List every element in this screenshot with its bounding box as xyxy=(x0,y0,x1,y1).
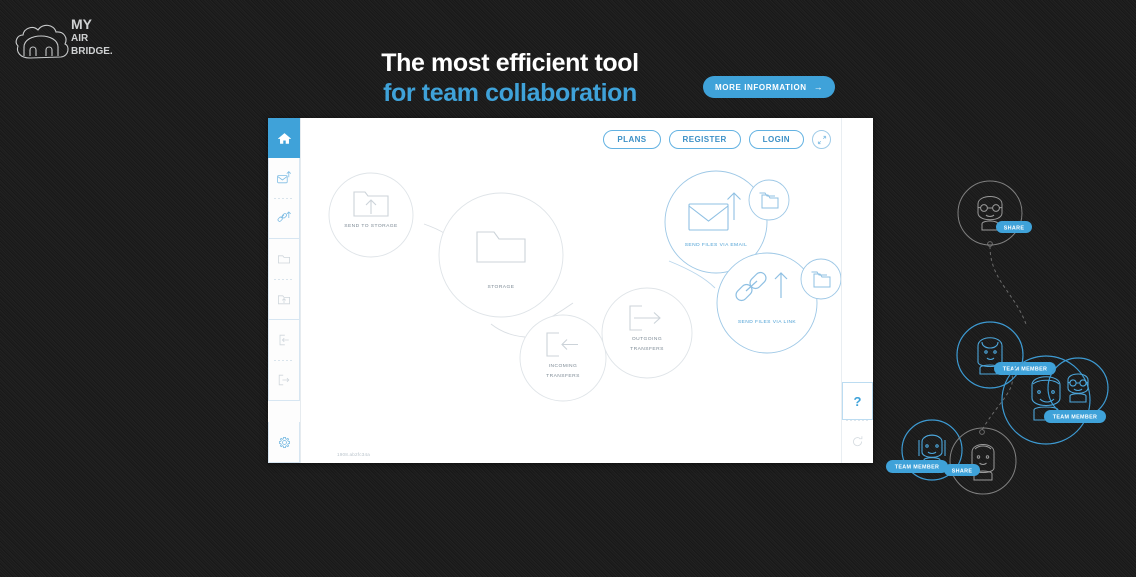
login-button[interactable]: LOGIN xyxy=(749,130,804,149)
landing-page: MY AIR BRIDGE. The most efficient tool f… xyxy=(0,0,1136,577)
svg-text:TEAM MEMBER: TEAM MEMBER xyxy=(1053,415,1098,421)
avatar-1[interactable]: SHARE xyxy=(958,181,1032,245)
sidebar-item-storage[interactable] xyxy=(269,239,299,279)
diagram-node-incoming-transfers[interactable]: INCOMING TRANSFERS xyxy=(520,315,606,401)
arrow-out-of-box-icon xyxy=(276,372,292,388)
node-label-send-to-storage: SEND TO STORAGE xyxy=(344,223,398,229)
man-bald-glasses-face xyxy=(1068,374,1088,402)
badge-team-member-5[interactable]: TEAM MEMBER xyxy=(886,460,948,473)
cloud-bridge-icon xyxy=(16,25,68,58)
connector-dot-bottom xyxy=(980,430,985,435)
badge-share-6[interactable]: SHARE xyxy=(944,464,980,476)
sidebar-item-send-to-storage[interactable] xyxy=(269,279,299,319)
workflow-diagram: SEND TO STORAGE STORAGE xyxy=(301,118,841,463)
sidebar-group-settings xyxy=(268,422,300,463)
node-label-incoming-line1: INCOMING xyxy=(549,363,578,369)
node-label-incoming-line2: TRANSFERS xyxy=(546,373,580,379)
satellite-files-email[interactable] xyxy=(749,180,789,220)
sidebar-item-send-files-via-email[interactable] xyxy=(269,158,299,198)
connector-dot-top xyxy=(988,242,993,247)
svg-text:TEAM MEMBER: TEAM MEMBER xyxy=(1003,367,1048,373)
app-canvas: PLANS REGISTER LOGIN xyxy=(301,118,841,463)
help-button[interactable]: ? xyxy=(842,382,873,420)
sidebar-item-settings[interactable] xyxy=(269,422,299,462)
brand-logo[interactable]: MY AIR BRIDGE. xyxy=(10,12,130,62)
node-label-send-files-via-link: SEND FILES VIA LINK xyxy=(738,319,797,325)
diagram-node-outgoing-transfers[interactable]: OUTGOING TRANSFERS xyxy=(602,288,692,378)
headline-line-1: The most efficient tool xyxy=(330,48,690,78)
app-topbar: PLANS REGISTER LOGIN xyxy=(603,130,831,149)
connector-dashed-top xyxy=(990,246,1026,324)
plans-button[interactable]: PLANS xyxy=(603,130,660,149)
svg-text:SHARE: SHARE xyxy=(1004,225,1025,231)
hero-headline: The most efficient tool for team collabo… xyxy=(330,48,690,108)
build-version: 1908.ab2fc34a xyxy=(337,452,370,457)
sidebar-spacer xyxy=(268,401,300,422)
app-window: PLANS REGISTER LOGIN xyxy=(268,118,873,463)
sidebar-item-incoming-transfers[interactable] xyxy=(269,320,299,360)
more-information-label: MORE INFORMATION xyxy=(715,83,807,92)
svg-text:TEAM MEMBER: TEAM MEMBER xyxy=(895,465,940,471)
brand-my: MY xyxy=(71,16,93,32)
diagram-node-send-to-storage[interactable]: SEND TO STORAGE xyxy=(329,173,413,257)
folder-upload-icon xyxy=(276,291,292,307)
home-icon xyxy=(278,132,291,145)
arrow-into-box-icon xyxy=(276,332,292,348)
brand-bridge: BRIDGE. xyxy=(71,46,113,57)
link-upload-icon xyxy=(276,210,292,226)
gear-icon xyxy=(277,435,292,450)
brand-air: AIR xyxy=(71,33,89,44)
team-illustration: SHARE TEAM MEMBER xyxy=(886,80,1136,500)
node-label-outgoing-line2: TRANSFERS xyxy=(630,346,664,352)
svg-text:SHARE: SHARE xyxy=(952,468,973,474)
avatar-6[interactable]: SHARE xyxy=(944,428,1016,494)
node-label-send-files-via-email: SEND FILES VIA EMAIL xyxy=(685,242,748,248)
envelope-upload-icon xyxy=(276,170,292,186)
sidebar-group-storage xyxy=(268,239,300,320)
sidebar-item-send-files-via-link[interactable] xyxy=(269,198,299,238)
badge-team-member-2[interactable]: TEAM MEMBER xyxy=(994,362,1056,375)
sidebar-item-home[interactable] xyxy=(268,118,300,158)
sidebar-group-send xyxy=(268,158,300,239)
diagram-node-send-files-via-link[interactable]: SEND FILES VIA LINK xyxy=(717,253,841,353)
node-label-storage: STORAGE xyxy=(488,284,515,290)
sidebar-item-outgoing-transfers[interactable] xyxy=(269,360,299,400)
headline-line-2: for team collaboration xyxy=(330,78,690,108)
badge-team-member-4[interactable]: TEAM MEMBER xyxy=(1044,410,1106,423)
expand-arrows-icon xyxy=(817,135,827,145)
satellite-files-link[interactable] xyxy=(801,259,841,299)
expand-button[interactable] xyxy=(812,130,831,149)
sidebar-group-transfers xyxy=(268,320,300,401)
avatar-2[interactable]: TEAM MEMBER xyxy=(957,322,1056,388)
folder-icon xyxy=(276,251,292,267)
diagram-node-storage[interactable]: STORAGE xyxy=(439,193,563,317)
arrow-right-icon: → xyxy=(814,83,824,92)
node-label-outgoing-line1: OUTGOING xyxy=(632,336,662,342)
app-right-rail: ? xyxy=(841,118,873,463)
refresh-icon xyxy=(851,435,864,448)
register-button[interactable]: REGISTER xyxy=(669,130,741,149)
refresh-button[interactable] xyxy=(842,420,873,463)
more-information-button[interactable]: MORE INFORMATION → xyxy=(703,76,835,98)
app-sidebar xyxy=(268,118,301,463)
badge-share-1[interactable]: SHARE xyxy=(996,221,1032,233)
